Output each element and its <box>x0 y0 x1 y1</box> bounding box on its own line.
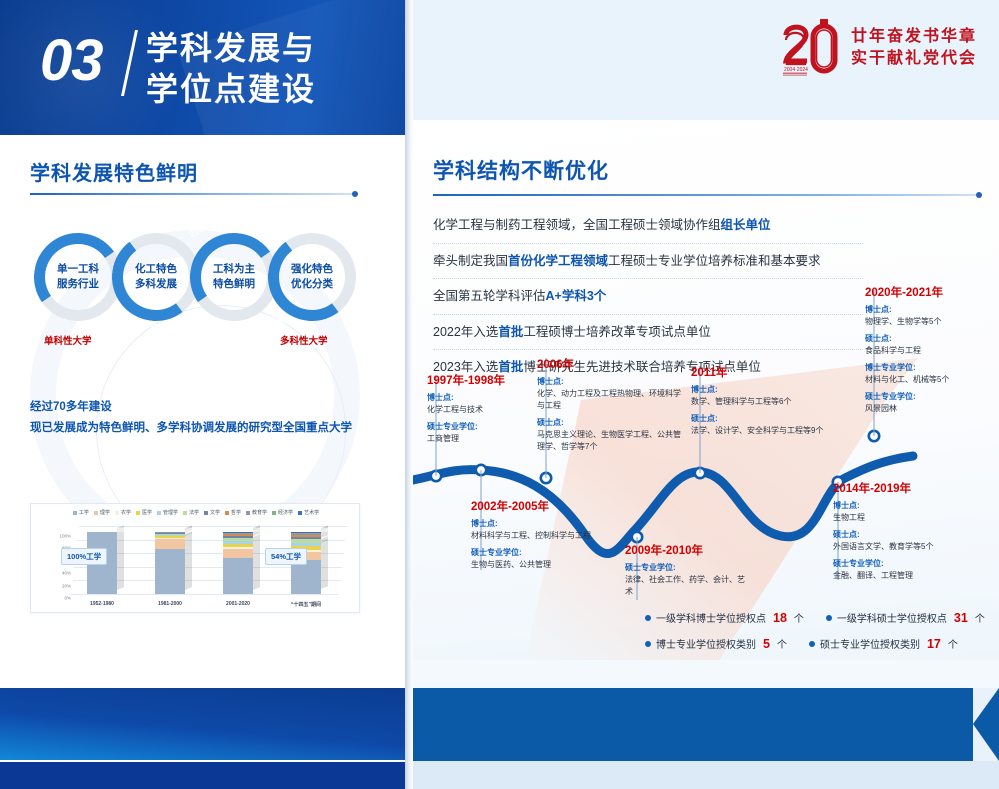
chart-bar <box>155 532 185 594</box>
summary-label: 一级学科硕士学位授权点 <box>837 610 947 625</box>
column-divider <box>405 0 413 789</box>
chart-legend-item: 文学 <box>204 509 220 516</box>
timeline-group-value: 化学、动力工程及工程热物理、环境科学与工程 <box>537 388 685 412</box>
timeline-group-key: 博士点: <box>537 376 685 388</box>
timeline-group-value: 材料科学与工程、控制科学与工程 <box>471 530 593 542</box>
timeline-group-key: 硕士点: <box>537 417 685 429</box>
svg-text:2004·2024: 2004·2024 <box>784 67 808 73</box>
logo-slogan-line-1: 廿年奋发书华章 <box>851 28 977 46</box>
logo-20-mark: 2004·2024 <box>780 19 842 77</box>
section-title-line-1: 学科发展与 <box>146 28 316 69</box>
section-title-line-2: 学位点建设 <box>146 69 316 110</box>
rule-end-dot <box>976 192 982 198</box>
chart-legend-item: 教育学 <box>246 509 267 516</box>
chart-bar <box>223 532 253 594</box>
left-footnote: 经过70多年建设 现已发展成为特色鲜明、多学科协调发展的研究型全国重点大学 <box>30 397 352 440</box>
legend-swatch <box>298 511 302 515</box>
timeline-annotation-2011: 2011年 博士点: 数学、管理科学与工程等6个 硕士点: 法学、设计学、安全科… <box>691 364 829 442</box>
timeline-annotation-2020-2021: 2020年-2021年 博士点: 物理学、生物学等5个 硕士点: 食品科学与工程… <box>865 284 991 420</box>
timeline-annotation-2006: 2006年 博士点: 化学、动力工程及工程热物理、环境科学与工程 硕士点: 马克… <box>537 356 685 458</box>
chart-y-tick: 0% <box>64 596 71 601</box>
achievement-bullet: 牵头制定我国首份化学工程领域工程硕士专业学位培养标准和基本要求 <box>433 244 863 280</box>
legend-swatch <box>272 511 276 515</box>
legend-swatch <box>204 511 208 515</box>
header-slash-divider <box>121 30 138 96</box>
chart-legend-item: 管理学 <box>157 509 178 516</box>
phase-2-line2: 多科发展 <box>135 277 177 292</box>
summary-item: 博士专业学位授权类别5个 <box>645 636 787 651</box>
chart-legend-item: 艺术学 <box>298 509 319 516</box>
left-footer-decoration <box>0 660 405 789</box>
bar-segment-side <box>185 542 192 589</box>
rule-end-dot <box>352 191 358 197</box>
chart-y-tick: 20% <box>62 583 71 588</box>
phase-circle-1-text: 单一工科 服务行业 <box>45 244 111 310</box>
timeline-group-value: 化学工程与技术 <box>427 404 549 416</box>
bullet-dot-icon <box>826 615 832 621</box>
timeline-group-key: 博士专业学位: <box>865 362 991 374</box>
timeline-group-value: 材料与化工、机械等5个 <box>865 374 991 386</box>
timeline-group: 博士点: 生物工程 <box>833 500 983 524</box>
summary-item: 一级学科硕士学位授权点31个 <box>826 610 985 625</box>
phase-1-line2: 服务行业 <box>57 277 99 292</box>
chart-legend-item: 经济学 <box>272 509 293 516</box>
discipline-composition-chart: 工学理学农学医学管理学法学文学哲学教育学经济学艺术学 0%20%40%60%80… <box>30 503 360 613</box>
legend-label: 管理学 <box>163 509 178 516</box>
section-header-banner: 03 学科发展与 学位点建设 <box>0 0 405 135</box>
timeline-group-value: 外国语言文学、教育学等5个 <box>833 541 983 553</box>
legend-label: 哲学 <box>231 509 241 516</box>
summary-number: 5 <box>761 637 772 651</box>
summary-number: 18 <box>771 611 789 625</box>
right-footer-lower-band <box>413 761 999 789</box>
timeline-group-key: 博士点: <box>471 518 593 530</box>
chart-x-tick: 1981-2000 <box>158 601 182 607</box>
bullet-highlight: 首份化学工程领域 <box>508 254 608 268</box>
legend-swatch <box>73 511 77 515</box>
left-footnote-line-2: 现已发展成为特色鲜明、多学科协调发展的研究型全国重点大学 <box>30 418 352 439</box>
legend-swatch <box>136 511 140 515</box>
phase-circle-2: 化工特色 多科发展 1981-2000 <box>112 233 200 321</box>
chart-x-tick: “十四五”期间 <box>291 601 321 608</box>
phase-4-note: 多科性大学 <box>280 333 328 347</box>
timeline-year: 2011年 <box>691 364 829 380</box>
bullet-pre-text: 牵头制定我国 <box>433 254 508 268</box>
right-footer-decoration <box>413 660 999 789</box>
phase-4-line2: 优化分类 <box>291 277 333 292</box>
bar-segment-side <box>253 551 260 590</box>
bar-top-face <box>155 528 192 532</box>
legend-label: 农学 <box>121 509 131 516</box>
phase-1-note: 单科性大学 <box>44 333 92 347</box>
summary-label: 一级学科博士学位授权点 <box>656 610 766 625</box>
infographic-page: 03 学科发展与 学位点建设 学科发展特色鲜明 单一工科 服务行业 <box>0 0 999 789</box>
summary-number: 31 <box>952 611 970 625</box>
timeline-group-value: 法学、设计学、安全科学与工程等9个 <box>691 425 829 437</box>
right-footer-band <box>413 688 999 761</box>
summary-label: 博士专业学位授权类别 <box>656 636 756 651</box>
timeline-year: 2020年-2021年 <box>865 284 991 300</box>
chart-legend-item: 理学 <box>94 509 110 516</box>
timeline-group-key: 硕士专业学位: <box>427 421 549 433</box>
bar-top-face <box>291 528 328 532</box>
timeline-group-value: 生物与医药、公共管理 <box>471 559 593 571</box>
timeline-annotation-2002-2005: 2002年-2005年 博士点: 材料科学与工程、控制科学与工程 硕士专业学位:… <box>471 498 593 576</box>
timeline-group-key: 硕士点: <box>691 413 829 425</box>
chart-bar-segment <box>155 539 185 549</box>
timeline-group: 博士点: 化学、动力工程及工程热物理、环境科学与工程 <box>537 376 685 412</box>
timeline-group: 硕士专业学位: 法律、社会工作、药学、会计、艺术 <box>625 562 747 598</box>
legend-swatch <box>94 511 98 515</box>
timeline-group: 硕士专业学位: 生物与医药、公共管理 <box>471 547 593 571</box>
summary-row: 一级学科博士学位授权点18个一级学科硕士学位授权点31个 <box>645 610 990 625</box>
phase-circle-2-text: 化工特色 多科发展 <box>123 244 189 310</box>
summary-unit: 个 <box>948 636 958 651</box>
bullet-dot-icon <box>645 641 651 647</box>
legend-swatch <box>157 511 161 515</box>
anniversary-logo: 2004·2024 廿年奋发书华章 实干献礼党代会 <box>780 18 977 78</box>
timeline-group-value: 食品科学与工程 <box>865 345 991 357</box>
timeline-group: 硕士点: 法学、设计学、安全科学与工程等9个 <box>691 413 829 437</box>
timeline-annotation-1997-1998: 1997年-1998年 博士点: 化学工程与技术 硕士专业学位: 工商管理 <box>427 372 549 450</box>
phase-circle-1: 单一工科 服务行业 1952-1980 <box>34 233 122 321</box>
legend-swatch <box>225 511 229 515</box>
timeline-group-key: 博士点: <box>865 304 991 316</box>
timeline-group-value: 金融、翻译、工程管理 <box>833 570 983 582</box>
timeline-group-key: 博士点: <box>691 384 829 396</box>
chart-bar-segment <box>291 560 321 593</box>
bullet-dot-icon <box>645 615 651 621</box>
phase-circle-4: 强化特色 优化分类 “十四五”期间 <box>268 233 356 321</box>
chart-bar-segment <box>223 558 253 594</box>
summary-item: 硕士专业学位授权类别17个 <box>809 636 958 651</box>
legend-swatch <box>115 511 119 515</box>
left-section-rule <box>30 193 355 195</box>
logo-slogan-line-2: 实干献礼党代会 <box>851 50 977 68</box>
left-footnote-line-1: 经过70多年建设 <box>30 397 352 418</box>
timeline-group-key: 硕士点: <box>833 529 983 541</box>
degree-authorization-summary: 一级学科博士学位授权点18个一级学科硕士学位授权点31个博士专业学位授权类别5个… <box>645 610 990 662</box>
timeline-group-key: 博士点: <box>833 500 983 512</box>
left-body: 学科发展特色鲜明 单一工科 服务行业 1952-1980 单科性大学 <box>0 135 405 660</box>
chart-legend-item: 医学 <box>136 509 152 516</box>
phase-circle-3: 工科为主 特色鲜明 2001-2020 <box>190 233 278 321</box>
bar-segment-side <box>117 525 124 590</box>
chart-callout: 100%工学 <box>61 548 107 565</box>
timeline-group-value: 风景园林 <box>865 403 991 415</box>
bar-top-face <box>223 528 260 532</box>
achievement-bullet: 化学工程与制药工程领域，全国工程硕士领域协作组组长单位 <box>433 208 863 244</box>
summary-item: 一级学科博士学位授权点18个 <box>645 610 804 625</box>
right-column: 2004·2024 廿年奋发书华章 实干献礼党代会 学科结构不断优化 化学工程与… <box>413 0 999 789</box>
right-section-title: 学科结构不断优化 <box>433 155 609 185</box>
legend-label: 经济学 <box>278 509 293 516</box>
chart-y-tick: 100% <box>59 534 71 539</box>
timeline-year: 2009年-2010年 <box>625 542 747 558</box>
discipline-phase-diagram: 单一工科 服务行业 1952-1980 单科性大学 化工特色 多科发展 1981… <box>18 215 388 340</box>
chart-legend: 工学理学农学医学管理学法学文学哲学教育学经济学艺术学 <box>31 509 361 516</box>
summary-label: 硕士专业学位授权类别 <box>820 636 920 651</box>
legend-label: 教育学 <box>252 509 267 516</box>
left-footer-band-1 <box>0 688 405 760</box>
chart-legend-item: 哲学 <box>225 509 241 516</box>
timeline-group-key: 博士点: <box>427 392 549 404</box>
legend-label: 艺术学 <box>304 509 319 516</box>
legend-swatch <box>246 511 250 515</box>
phase-2-line1: 化工特色 <box>135 262 177 277</box>
summary-unit: 个 <box>975 610 985 625</box>
legend-swatch <box>183 511 187 515</box>
phase-circle-4-text: 强化特色 优化分类 <box>279 244 345 310</box>
timeline-group: 博士点: 化学工程与技术 <box>427 392 549 416</box>
timeline-group-value: 生物工程 <box>833 512 983 524</box>
timeline-group-key: 硕士专业学位: <box>471 547 593 559</box>
timeline-group: 硕士专业学位: 金融、翻译、工程管理 <box>833 558 983 582</box>
timeline-group: 硕士点: 食品科学与工程 <box>865 333 991 357</box>
bar-top-face <box>87 528 124 532</box>
right-footer-notch <box>973 688 999 761</box>
chart-legend-item: 农学 <box>115 509 131 516</box>
legend-label: 理学 <box>100 509 110 516</box>
chart-legend-item: 工学 <box>73 509 89 516</box>
left-footer-band-2 <box>0 762 405 789</box>
timeline-annotation-2014-2019: 2014年-2019年 博士点: 生物工程 硕士点: 外国语言文学、教育学等5个… <box>833 480 983 587</box>
timeline-group-key: 硕士点: <box>865 333 991 345</box>
section-number: 03 <box>40 32 103 90</box>
timeline-year: 1997年-1998年 <box>427 372 549 388</box>
bullet-highlight: 组长单位 <box>721 218 771 232</box>
summary-unit: 个 <box>777 636 787 651</box>
bullet-dot-icon <box>809 641 815 647</box>
left-column: 03 学科发展与 学位点建设 学科发展特色鲜明 单一工科 服务行业 <box>0 0 405 789</box>
chart-x-tick: 1952-1980 <box>90 601 114 607</box>
timeline-group: 硕士点: 外国语言文学、教育学等5个 <box>833 529 983 553</box>
timeline-group: 博士点: 物理学、生物学等5个 <box>865 304 991 328</box>
logo-slogan: 廿年奋发书华章 实干献礼党代会 <box>851 28 977 69</box>
legend-label: 工学 <box>79 509 89 516</box>
timeline-group: 硕士点: 马克思主义理论、生物医学工程、公共管理学、哲学等7个 <box>537 417 685 453</box>
right-section-rule <box>433 194 979 196</box>
summary-number: 17 <box>925 637 943 651</box>
chart-gridline <box>71 594 339 595</box>
chart-bar-segment <box>155 549 185 594</box>
right-footer-top-wash <box>413 660 999 688</box>
chart-y-tick: 40% <box>62 571 71 576</box>
timeline-group-value: 工商管理 <box>427 433 549 445</box>
timeline-annotation-2009-2010: 2009年-2010年 硕士专业学位: 法律、社会工作、药学、会计、艺术 <box>625 542 747 603</box>
timeline-group-value: 物理学、生物学等5个 <box>865 316 991 328</box>
timeline-year: 2006年 <box>537 356 685 372</box>
timeline-group-key: 硕士专业学位: <box>865 391 991 403</box>
timeline-year: 2014年-2019年 <box>833 480 983 496</box>
timeline-group-value: 数学、管理科学与工程等6个 <box>691 396 829 408</box>
logo-icon: 2004·2024 <box>780 19 842 77</box>
timeline-group-value: 马克思主义理论、生物医学工程、公共管理学、哲学等7个 <box>537 429 685 453</box>
chart-x-tick: 2001-2020 <box>226 601 250 607</box>
chart-plot-area: 0%20%40%60%80%100% 1952-19801981-2000200… <box>41 522 353 610</box>
chart-bar-segment <box>223 549 253 558</box>
bar-segment-side <box>321 554 328 590</box>
phase-3-line2: 特色鲜明 <box>213 277 255 292</box>
legend-label: 文学 <box>210 509 220 516</box>
timeline-group-value: 法律、社会工作、药学、会计、艺术 <box>625 574 747 598</box>
legend-label: 法学 <box>189 509 199 516</box>
timeline-group: 硕士专业学位: 工商管理 <box>427 421 549 445</box>
chart-legend-item: 法学 <box>183 509 199 516</box>
legend-label: 医学 <box>142 509 152 516</box>
section-header-title: 学科发展与 学位点建设 <box>146 28 316 110</box>
phase-4-line1: 强化特色 <box>291 262 333 277</box>
timeline-group: 硕士专业学位: 风景园林 <box>865 391 991 415</box>
chart-callout: 54%工学 <box>265 548 307 565</box>
phase-3-line1: 工科为主 <box>213 262 255 277</box>
timeline-group: 博士点: 数学、管理科学与工程等6个 <box>691 384 829 408</box>
left-section-title: 学科发展特色鲜明 <box>30 157 198 186</box>
timeline-group: 博士专业学位: 材料与化工、机械等5个 <box>865 362 991 386</box>
timeline-group: 博士点: 材料科学与工程、控制科学与工程 <box>471 518 593 542</box>
timeline-year: 2002年-2005年 <box>471 498 593 514</box>
bullet-pre-text: 化学工程与制药工程领域，全国工程硕士领域协作组 <box>433 218 721 232</box>
phase-circle-3-text: 工科为主 特色鲜明 <box>201 244 267 310</box>
timeline-group-key: 硕士专业学位: <box>625 562 747 574</box>
timeline-group-key: 硕士专业学位: <box>833 558 983 570</box>
summary-unit: 个 <box>794 610 804 625</box>
phase-1-line1: 单一工科 <box>57 262 99 277</box>
bullet-post-text: 工程硕士专业学位培养标准和基本要求 <box>608 254 821 268</box>
summary-row: 博士专业学位授权类别5个硕士专业学位授权类别17个 <box>645 636 990 651</box>
